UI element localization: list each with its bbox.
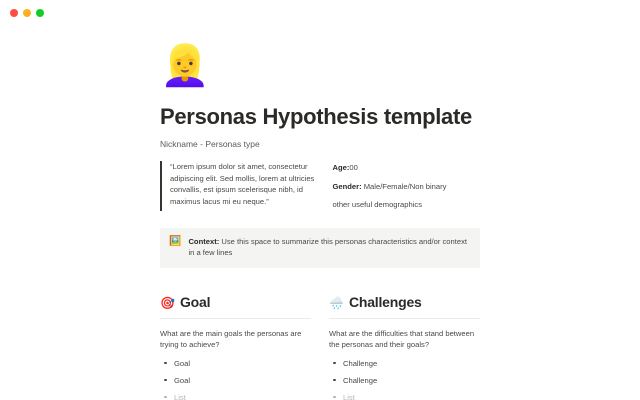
close-window-button[interactable]	[10, 9, 18, 17]
persona-quote-block: “Lorem ipsum dolor sit amet, consectetur…	[160, 161, 315, 211]
list-item[interactable]: Goal	[160, 358, 311, 369]
maximize-window-button[interactable]	[36, 9, 44, 17]
section-goal: 🎯 Goal What are the main goals the perso…	[160, 294, 311, 400]
section-goal-divider	[160, 318, 311, 319]
context-callout-body: Use this space to summarize this persona…	[188, 237, 467, 258]
section-challenges-title: Challenges	[349, 294, 422, 311]
persona-avatar-icon[interactable]: 👱‍♀️	[160, 44, 480, 88]
demographic-gender-value: Male/Female/Non binary	[362, 182, 447, 191]
section-goal-header[interactable]: 🎯 Goal	[160, 294, 311, 311]
dart-target-icon: 🎯	[160, 295, 175, 311]
persona-quote-text[interactable]: “Lorem ipsum dolor sit amet, consectetur…	[170, 161, 315, 207]
section-goal-list: Goal Goal List	[160, 358, 311, 400]
demographic-gender-label: Gender:	[333, 182, 362, 191]
section-challenges: 🌧️ Challenges What are the difficulties …	[329, 294, 480, 400]
sections-row: 🎯 Goal What are the main goals the perso…	[160, 294, 480, 400]
page-title[interactable]: Personas Hypothesis template	[160, 104, 480, 130]
persona-demographics-block: Age:00 Gender: Male/Female/Non binary ot…	[333, 161, 481, 211]
window-titlebar	[0, 0, 640, 26]
demographic-age-row[interactable]: Age:00	[333, 162, 481, 174]
rain-cloud-icon: 🌧️	[329, 295, 344, 311]
list-item-placeholder[interactable]: List	[160, 392, 311, 400]
list-item[interactable]: Challenge	[329, 375, 480, 386]
document-page: 👱‍♀️ Personas Hypothesis template Nickna…	[0, 26, 640, 400]
section-goal-title: Goal	[180, 294, 210, 311]
section-challenges-description[interactable]: What are the difficulties that stand bet…	[329, 328, 480, 351]
context-callout-label: Context:	[188, 237, 219, 246]
context-callout[interactable]: 🖼️ Context: Use this space to summarize …	[160, 228, 480, 268]
list-item[interactable]: Challenge	[329, 358, 480, 369]
section-challenges-divider	[329, 318, 480, 319]
context-callout-text: Context: Use this space to summarize thi…	[188, 236, 470, 259]
document-content: 👱‍♀️ Personas Hypothesis template Nickna…	[160, 26, 480, 400]
section-goal-description[interactable]: What are the main goals the personas are…	[160, 328, 311, 351]
page-subtitle[interactable]: Nickname - Personas type	[160, 138, 480, 150]
list-item-placeholder[interactable]: List	[329, 392, 480, 400]
minimize-window-button[interactable]	[23, 9, 31, 17]
section-challenges-list: Challenge Challenge List	[329, 358, 480, 400]
demographic-gender-row[interactable]: Gender: Male/Female/Non binary	[333, 181, 481, 193]
demographic-age-label: Age:	[333, 163, 350, 172]
list-item[interactable]: Goal	[160, 375, 311, 386]
section-challenges-header[interactable]: 🌧️ Challenges	[329, 294, 480, 311]
demographic-other-row[interactable]: other useful demographics	[333, 199, 481, 211]
demographic-other-value: other useful demographics	[333, 200, 423, 209]
demographic-age-value: 00	[349, 163, 357, 172]
persona-summary-columns: “Lorem ipsum dolor sit amet, consectetur…	[160, 161, 480, 211]
framed-picture-icon: 🖼️	[169, 236, 181, 248]
window-controls	[10, 9, 44, 17]
